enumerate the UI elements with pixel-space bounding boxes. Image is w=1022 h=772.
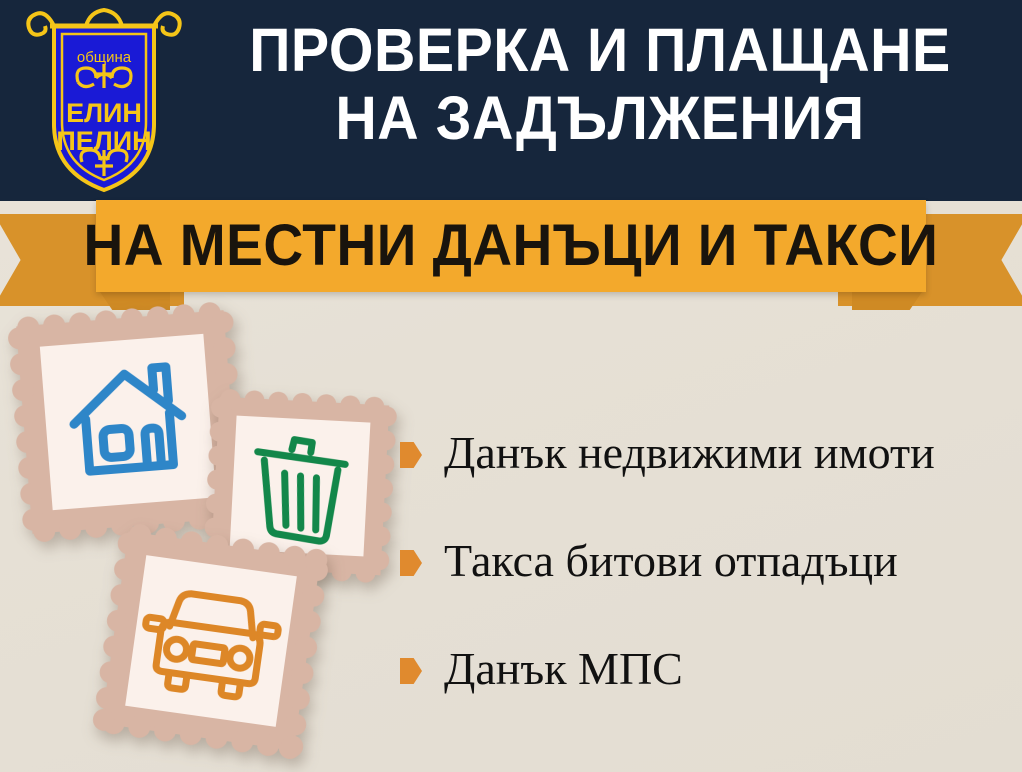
ribbon-banner: НА МЕСТНИ ДАНЪЦИ И ТАКСИ xyxy=(0,200,1022,312)
arrow-bullet-icon xyxy=(400,550,422,576)
page-title: ПРОВЕРКА И ПЛАЩАНЕ НА ЗАДЪЛЖЕНИЯ xyxy=(190,16,1010,152)
ribbon-text: НА МЕСТНИ ДАНЪЦИ И ТАКСИ xyxy=(84,217,939,275)
stamp-paper-vehicle xyxy=(125,555,297,727)
title-line-2: НА ЗАДЪЛЖЕНИЯ xyxy=(215,84,986,152)
ribbon-panel: НА МЕСТНИ ДАНЪЦИ И ТАКСИ xyxy=(96,200,926,292)
header-bar: община ЕЛИН ПЕЛИН xyxy=(0,0,1022,201)
crest-top-word: община xyxy=(77,49,132,66)
crest-line-1: ЕЛИН xyxy=(66,98,142,128)
poster-canvas: община ЕЛИН ПЕЛИН xyxy=(0,0,1022,772)
list-item-label: Данък недвижими имоти xyxy=(444,428,935,478)
list-item[interactable]: Данък недвижими имоти xyxy=(400,425,1015,481)
stamp-paper-property xyxy=(40,334,216,510)
coat-of-arms: община ЕЛИН ПЕЛИН xyxy=(24,4,184,198)
arrow-bullet-icon xyxy=(400,442,422,468)
tax-type-list: Данък недвижими имоти Такса битови отпад… xyxy=(400,425,1015,749)
stamp-card-vehicle xyxy=(90,520,332,762)
list-item[interactable]: Данък МПС xyxy=(400,641,1015,697)
title-line-1: ПРОВЕРКА И ПЛАЩАНЕ xyxy=(215,16,986,84)
list-item-label: Такса битови отпадъци xyxy=(444,536,898,586)
arrow-bullet-icon xyxy=(400,658,422,684)
list-item-label: Данък МПС xyxy=(444,644,683,694)
list-item[interactable]: Такса битови отпадъци xyxy=(400,533,1015,589)
